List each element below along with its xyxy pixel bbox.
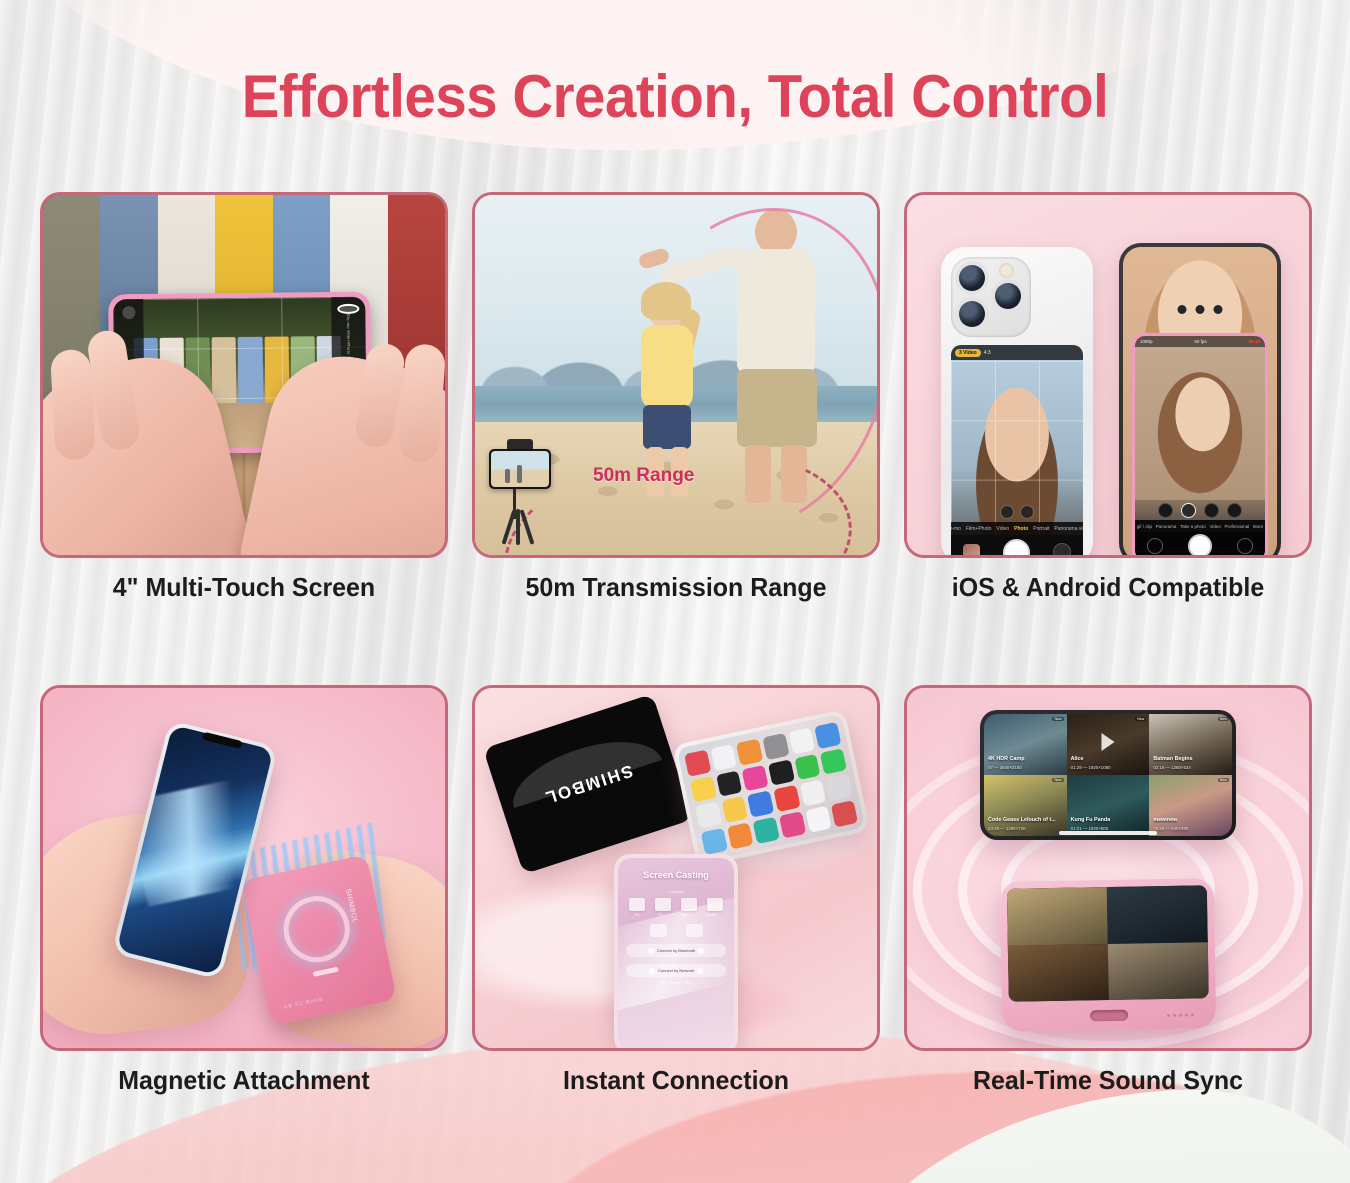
power-bank-screen (1007, 885, 1209, 1001)
app-icon[interactable] (826, 774, 853, 801)
camera-lens-icon (959, 301, 985, 327)
video-title: 4K HDR Camp (988, 756, 1025, 762)
lens-toggle-1x-icon[interactable] (1000, 505, 1014, 519)
mode-gif[interactable]: gif / clip (1137, 524, 1152, 529)
mode-portrait[interactable]: Portrait (1033, 526, 1049, 532)
android-camera-statusbar: 1080p 60 fps 00:13 (1135, 336, 1265, 347)
feature-image-sound-sync: New 4K HDR Camp 07 — 3840×2160 New Alice… (904, 685, 1312, 1051)
feature-caption-transmission-range: 50m Transmission Range (480, 572, 872, 603)
bluetooth-icon (648, 948, 654, 954)
app-icon[interactable] (716, 770, 743, 797)
video-badge: New (1218, 778, 1229, 782)
feature-caption-os-compatible: iOS & Android Compatible (912, 572, 1304, 603)
app-icon[interactable] (762, 733, 789, 760)
footer-about[interactable]: About (685, 981, 693, 985)
app-icon[interactable] (805, 806, 832, 833)
feature-cell-multi-touch-screen: Slo-mo Film+Photo Video Photo Portrait P… (40, 192, 448, 603)
certification-label: CE FC RoHS (284, 996, 324, 1010)
connect-network-label: Connect by Network (658, 968, 694, 973)
feature-image-transmission-range: 50m Range (472, 192, 880, 558)
monitor-icon[interactable] (707, 898, 723, 911)
video-meta: 02:18 — 1280×534 (1153, 765, 1190, 770)
android-inner-monitor: 1080p 60 fps 00:13 (1132, 333, 1268, 558)
video-badge: New (1135, 717, 1146, 721)
feature-cell-os-compatible: 3 Video 4:3 Slo-mo Film+Photo Video (904, 192, 1312, 603)
casting-phone: Screen Casting Connect PC TV Pad (614, 854, 738, 1051)
flip-camera-icon[interactable] (1053, 543, 1071, 558)
camera-module (951, 257, 1031, 337)
feature-caption-instant-connection: Instant Connection (480, 1065, 872, 1096)
chevron-right-icon (698, 948, 704, 954)
mode-video[interactable]: Video (1209, 524, 1220, 529)
page-title: Effortless Creation, Total Control (41, 62, 1310, 131)
infographic-page: Effortless Creation, Total Control (0, 0, 1350, 1183)
app-icon[interactable] (800, 780, 827, 807)
video-title: mewmew (1153, 817, 1177, 823)
label-tv: TV (658, 913, 662, 917)
feature-cell-sound-sync: New 4K HDR Camp 07 — 3840×2160 New Alice… (904, 685, 1312, 1096)
app-grid[interactable] (684, 722, 858, 855)
video-gallery-phone: New 4K HDR Camp 07 — 3840×2160 New Alice… (980, 710, 1236, 840)
casting-footer[interactable]: Help Settings About (618, 981, 734, 985)
video-meta: 01:29 — 1920×1080 (1071, 765, 1111, 770)
chevron-right-icon (697, 968, 703, 974)
tripod-phone-rig (483, 437, 567, 545)
mode-panorama[interactable]: Panorama view (1054, 526, 1083, 532)
label-pc: PC (635, 913, 640, 917)
record-pill[interactable]: 3 Video (955, 349, 981, 357)
speaker-grille-icon (1167, 1014, 1194, 1017)
app-icon[interactable] (742, 765, 769, 792)
shutter-button[interactable] (1188, 534, 1212, 558)
casting-section-label: Connect (618, 889, 734, 894)
tripod-phone-screen (491, 451, 549, 487)
resolution-label[interactable]: 4:3 (984, 350, 991, 356)
app-icon[interactable] (684, 750, 711, 777)
feature-image-os-compatible: 3 Video 4:3 Slo-mo Film+Photo Video (904, 192, 1312, 558)
flash-icon[interactable] (1227, 503, 1242, 518)
shutter-button[interactable] (1003, 539, 1030, 559)
play-icon[interactable] (1101, 733, 1114, 751)
app-icon[interactable] (794, 754, 821, 781)
feature-grid: Slo-mo Film+Photo Video Photo Portrait P… (40, 192, 1312, 1096)
mirror-icon[interactable] (650, 924, 667, 937)
label-monitor: Monitor (705, 913, 717, 917)
fps-label[interactable]: 60 fps (1194, 339, 1206, 344)
label-pad: Pad (681, 913, 687, 917)
lens-toggle-row[interactable] (951, 505, 1083, 519)
iphone-camera-statusbar: 3 Video 4:3 (951, 345, 1083, 360)
android-quick-controls[interactable] (1135, 503, 1265, 518)
tv-icon[interactable] (655, 898, 671, 911)
mode-professional[interactable]: Professional (1224, 524, 1249, 529)
app-icon[interactable] (721, 796, 748, 823)
iphone-camera-bottombar[interactable] (951, 535, 1083, 558)
video-title: Code Geass Lelouch of t... (988, 817, 1056, 823)
iphone-screen: 3 Video 4:3 Slo-mo Film+Photo Video (951, 345, 1083, 558)
camera-lens-icon (959, 265, 985, 291)
video-badge: New (1052, 717, 1063, 721)
app-icon[interactable] (831, 800, 858, 827)
video-meta: 07 — 3840×2160 (988, 765, 1022, 770)
feature-image-instant-connection: SHIMBOL (472, 685, 880, 1051)
video-tile[interactable]: New Batman Begins 02:18 — 1280×534 (1149, 714, 1232, 775)
footer-settings[interactable]: Settings (669, 981, 681, 985)
app-icon[interactable] (779, 811, 806, 838)
feature-caption-sound-sync: Real-Time Sound Sync (912, 1065, 1304, 1096)
play-icon[interactable] (686, 924, 703, 937)
video-tile[interactable]: Kung Fu Panda 01:01 — 1920×800 (1067, 775, 1150, 836)
indicator-slot (313, 967, 339, 977)
iphone-device: 3 Video 4:3 Slo-mo Film+Photo Video (941, 247, 1093, 558)
feature-image-magnetic-attachment: SHIMBOL CE FC RoHS (40, 685, 448, 1051)
video-tile[interactable]: New mewmew 00:58 — 640×480 (1149, 775, 1232, 836)
brand-label: SHIMBOL (541, 760, 635, 808)
android-device: 1080p 60 fps 00:13 (1119, 243, 1281, 558)
usb-c-port-icon (1090, 1010, 1128, 1022)
app-icon[interactable] (690, 776, 717, 803)
resolution-label[interactable]: 1080p (1140, 339, 1153, 344)
playback-progress-bar[interactable] (1059, 831, 1156, 835)
connect-bluetooth-label: Connect by Bluetooth (657, 948, 695, 953)
feature-caption-magnetic-attachment: Magnetic Attachment (48, 1065, 440, 1096)
mode-more[interactable]: More (1253, 524, 1263, 529)
android-portrait-subject (1135, 347, 1265, 500)
wifi-icon (649, 968, 655, 974)
pad-icon[interactable] (681, 898, 697, 911)
beauty-icon[interactable] (1181, 503, 1196, 518)
video-title: Batman Begins (1153, 756, 1192, 762)
range-badge: 50m Range (593, 465, 694, 487)
feature-image-multi-touch-screen: Slo-mo Film+Photo Video Photo Portrait P… (40, 192, 448, 558)
camera-lens-icon (995, 283, 1021, 309)
app-icon[interactable] (773, 785, 800, 812)
casting-target-labels: PC TV Pad Monitor (618, 913, 734, 917)
video-badge: New (1218, 717, 1229, 721)
video-tile[interactable]: New 4K HDR Camp 07 — 3840×2160 (984, 714, 1067, 775)
app-icon[interactable] (695, 802, 722, 829)
pc-icon[interactable] (629, 898, 645, 911)
android-mode-strip[interactable]: gif / clip Panorama Take a photo Video P… (1135, 520, 1265, 532)
casting-action-icons[interactable] (618, 924, 734, 937)
android-screen: 1080p 60 fps 00:13 (1123, 247, 1277, 558)
settings-icon[interactable] (122, 306, 135, 319)
app-icon[interactable] (710, 744, 737, 771)
filter-icon[interactable] (1158, 503, 1173, 518)
record-timer: 00:13 (1248, 339, 1260, 344)
mode-film-photo[interactable]: Film+Photo (966, 526, 991, 532)
mode-photo[interactable]: Photo (1014, 526, 1028, 532)
connect-network-row[interactable]: Connect by Network (626, 964, 726, 977)
feature-cell-instant-connection: SHIMBOL (472, 685, 880, 1096)
feature-caption-multi-touch-screen: 4" Multi-Touch Screen (48, 572, 440, 603)
video-tile[interactable]: New Alice 01:29 — 1920×1080 (1067, 714, 1150, 775)
android-inner-screen: 1080p 60 fps 00:13 (1135, 336, 1265, 558)
casting-screen: Screen Casting Connect PC TV Pad (618, 858, 734, 1050)
app-icon[interactable] (768, 759, 795, 786)
lens-toggle-2x-icon[interactable] (1020, 505, 1034, 519)
app-icon[interactable] (788, 727, 815, 754)
android-camera-bottombar[interactable] (1135, 532, 1265, 558)
magsafe-ring-icon (278, 890, 356, 968)
gallery-thumbnail[interactable] (963, 544, 980, 559)
mode-panorama[interactable]: Panorama (1156, 524, 1177, 529)
footer-help[interactable]: Help (659, 981, 666, 985)
app-icon[interactable] (753, 817, 780, 844)
app-icon[interactable] (701, 828, 728, 855)
feature-cell-magnetic-attachment: SHIMBOL CE FC RoHS Magnetic Attachment (40, 685, 448, 1096)
mode-take-photo[interactable]: Take a photo (1180, 524, 1206, 529)
focus-ring-icon[interactable] (337, 304, 359, 314)
flash-icon (999, 263, 1014, 278)
video-title: Alice (1071, 756, 1084, 762)
casting-target-icons[interactable] (618, 898, 734, 911)
casting-title: Screen Casting (618, 870, 734, 880)
video-meta: 00:58 — 640×480 (1153, 826, 1188, 831)
pink-power-bank-device (1000, 878, 1217, 1032)
connect-bluetooth-row[interactable]: Connect by Bluetooth (626, 944, 726, 957)
feature-cell-transmission-range: 50m Range 50m Transmission Range (472, 192, 880, 603)
gallery-thumbnail[interactable] (1147, 538, 1163, 554)
punch-hole-camera-icon (1178, 305, 1223, 314)
mode-slo-mo[interactable]: Slo-mo (951, 526, 961, 532)
tripod-phone (489, 449, 551, 489)
video-grid[interactable]: New 4K HDR Camp 07 — 3840×2160 New Alice… (984, 714, 1232, 836)
video-meta: 23:49 — 1280×720 (988, 826, 1025, 831)
video-title: Kung Fu Panda (1071, 817, 1111, 823)
timer-icon[interactable] (1204, 503, 1219, 518)
mode-video[interactable]: Video (996, 526, 1009, 532)
app-icon[interactable] (820, 748, 847, 775)
video-badge: New (1052, 778, 1063, 782)
iphone-mode-strip[interactable]: Slo-mo Film+Photo Video Photo Portrait P… (951, 522, 1083, 535)
app-icon[interactable] (736, 739, 763, 766)
flip-camera-icon[interactable] (1237, 538, 1253, 554)
app-icon[interactable] (727, 822, 754, 849)
app-icon[interactable] (747, 791, 774, 818)
app-icon[interactable] (815, 722, 842, 749)
video-tile[interactable]: New Code Geass Lelouch of t... 23:49 — 1… (984, 775, 1067, 836)
